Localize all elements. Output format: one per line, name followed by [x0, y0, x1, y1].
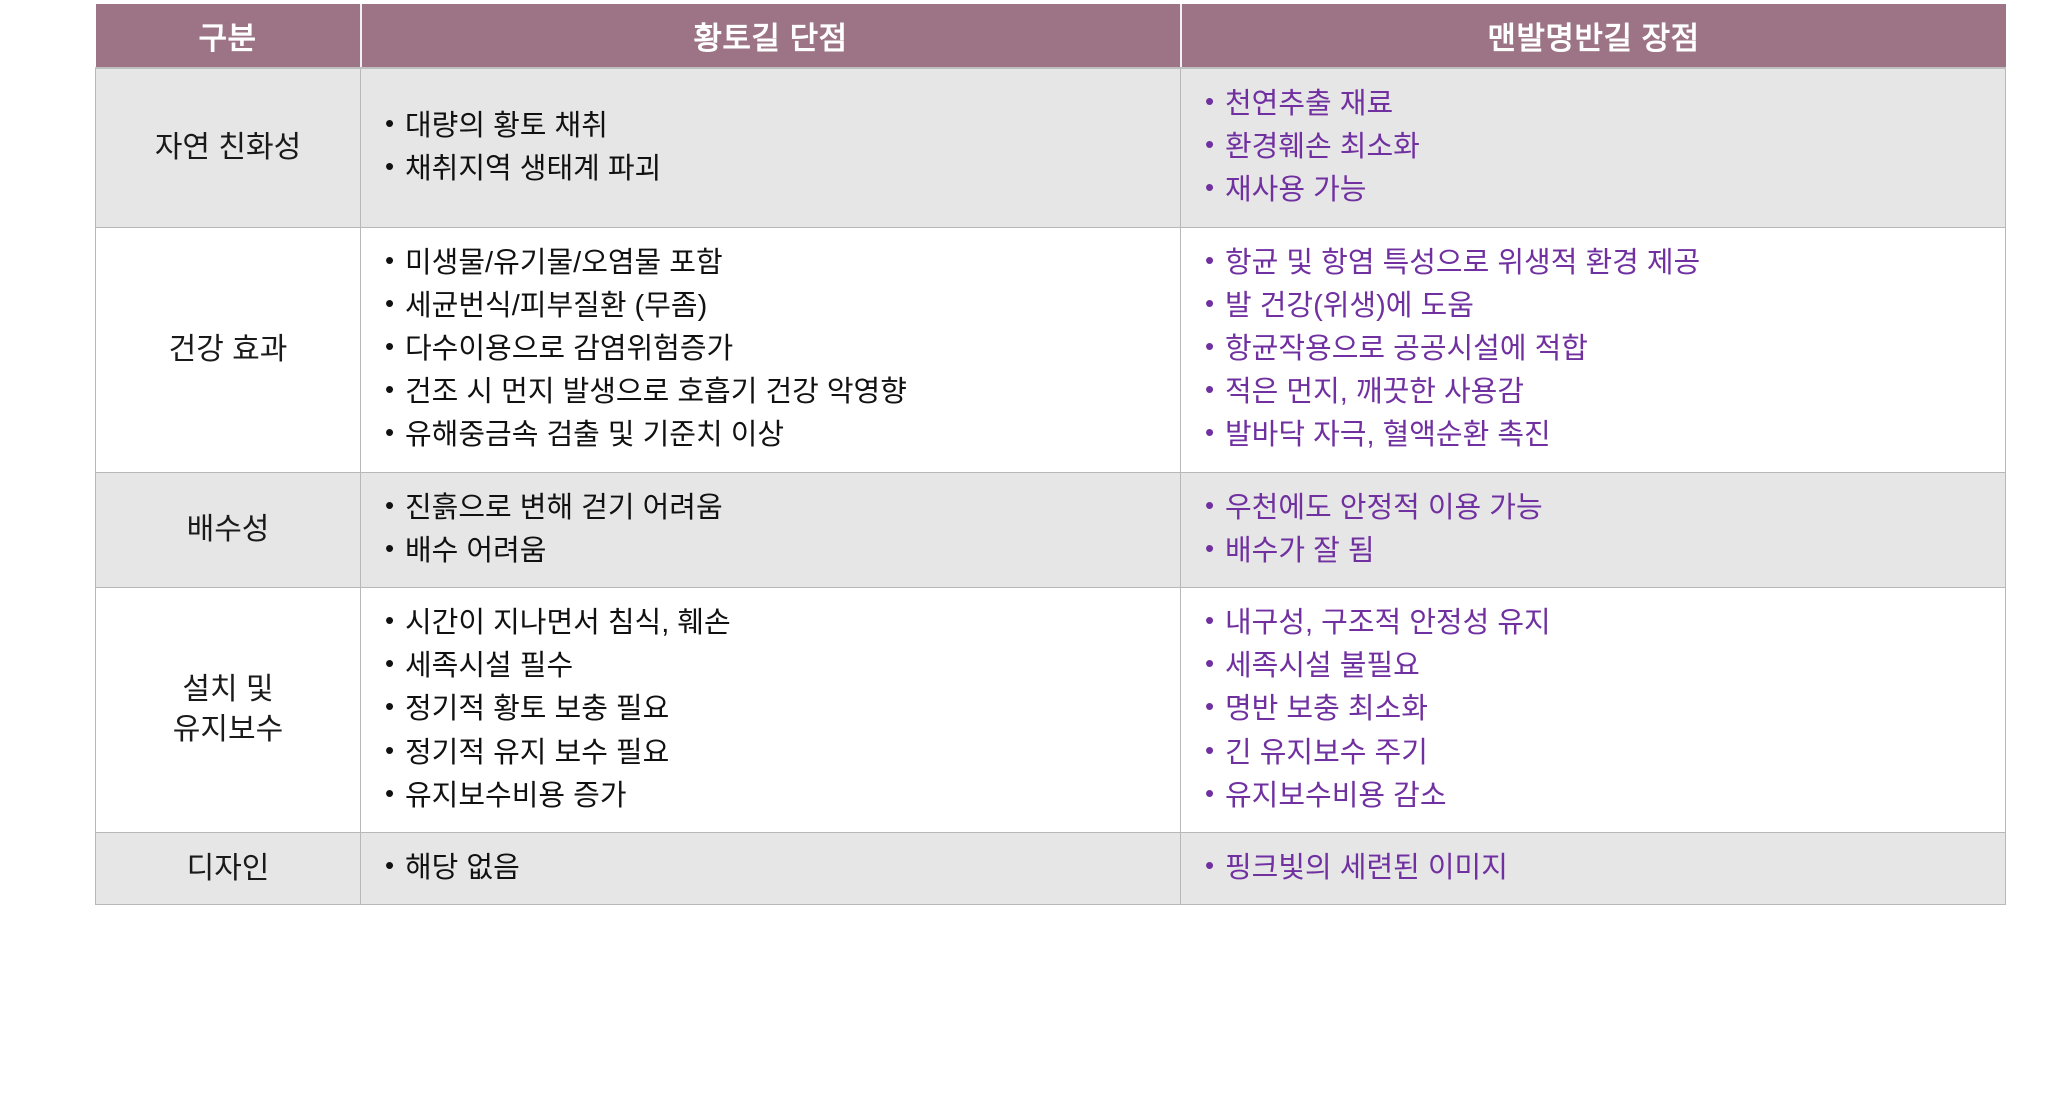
- bullet-item: 우천에도 안정적 이용 가능: [1203, 487, 2005, 530]
- bullet-list: 항균 및 항염 특성으로 위생적 환경 제공발 건강(위생)에 도움항균작용으로…: [1203, 242, 2005, 458]
- bullet-item: 내구성, 구조적 안정성 유지: [1203, 602, 2005, 645]
- bullet-item: 항균 및 항염 특성으로 위생적 환경 제공: [1203, 242, 2005, 285]
- bullet-item: 배수가 잘 됨: [1203, 530, 2005, 573]
- row-pros-cell: 핑크빛의 세련된 이미지: [1181, 833, 2006, 905]
- bullet-item: 천연추출 재료: [1203, 83, 2005, 126]
- bullet-list: 진흙으로 변해 걷기 어려움배수 어려움: [383, 487, 1180, 573]
- row-category-label: 건강 효과: [100, 330, 356, 370]
- header-cons: 황토길 단점: [361, 4, 1181, 68]
- bullet-list: 미생물/유기물/오염물 포함세균번식/피부질환 (무좀)다수이용으로 감염위험증…: [383, 242, 1180, 458]
- bullet-item: 건조 시 먼지 발생으로 호흡기 건강 악영향: [383, 371, 1180, 414]
- row-category-label: 배수성: [100, 510, 356, 550]
- row-cons-cell: 진흙으로 변해 걷기 어려움배수 어려움: [361, 472, 1181, 587]
- bullet-list: 시간이 지나면서 침식, 훼손세족시설 필수정기적 황토 보충 필요정기적 유지…: [383, 602, 1180, 818]
- row-cons-cell: 대량의 황토 채취채취지역 생태계 파괴: [361, 68, 1181, 227]
- bullet-item: 세족시설 불필요: [1203, 645, 2005, 688]
- table-container: 구분 황토길 단점 맨발명반길 장점 자연 친화성대량의 황토 채취채취지역 생…: [95, 4, 2005, 1102]
- row-pros-cell: 천연추출 재료환경훼손 최소화재사용 가능: [1181, 68, 2006, 227]
- row-pros-cell: 내구성, 구조적 안정성 유지세족시설 불필요명반 보충 최소화긴 유지보수 주…: [1181, 588, 2006, 833]
- header-pros: 맨발명반길 장점: [1181, 4, 2006, 68]
- bullet-list: 핑크빛의 세련된 이미지: [1203, 847, 2005, 890]
- table-body: 자연 친화성대량의 황토 채취채취지역 생태계 파괴천연추출 재료환경훼손 최소…: [96, 68, 2006, 905]
- bullet-item: 미생물/유기물/오염물 포함: [383, 242, 1180, 285]
- bullet-item: 정기적 유지 보수 필요: [383, 732, 1180, 775]
- bullet-item: 유지보수비용 감소: [1203, 775, 2005, 818]
- bullet-item: 채취지역 생태계 파괴: [383, 148, 1180, 191]
- bullet-item: 유지보수비용 증가: [383, 775, 1180, 818]
- bullet-item: 환경훼손 최소화: [1203, 126, 2005, 169]
- row-pros-cell: 항균 및 항염 특성으로 위생적 환경 제공발 건강(위생)에 도움항균작용으로…: [1181, 227, 2006, 472]
- bullet-item: 적은 먼지, 깨끗한 사용감: [1203, 371, 2005, 414]
- bullet-item: 다수이용으로 감염위험증가: [383, 328, 1180, 371]
- row-category-cell: 설치 및유지보수: [96, 588, 361, 833]
- table-header: 구분 황토길 단점 맨발명반길 장점: [96, 4, 2006, 68]
- row-pros-cell: 우천에도 안정적 이용 가능배수가 잘 됨: [1181, 472, 2006, 587]
- table-row: 배수성진흙으로 변해 걷기 어려움배수 어려움우천에도 안정적 이용 가능배수가…: [96, 472, 2006, 587]
- row-category-cell: 배수성: [96, 472, 361, 587]
- row-category-cell: 자연 친화성: [96, 68, 361, 227]
- row-cons-cell: 미생물/유기물/오염물 포함세균번식/피부질환 (무좀)다수이용으로 감염위험증…: [361, 227, 1181, 472]
- bullet-list: 대량의 황토 채취채취지역 생태계 파괴: [383, 105, 1180, 191]
- bullet-item: 대량의 황토 채취: [383, 105, 1180, 148]
- table-row: 자연 친화성대량의 황토 채취채취지역 생태계 파괴천연추출 재료환경훼손 최소…: [96, 68, 2006, 227]
- bullet-item: 명반 보충 최소화: [1203, 688, 2005, 731]
- row-cons-cell: 해당 없음: [361, 833, 1181, 905]
- bullet-item: 세균번식/피부질환 (무좀): [383, 285, 1180, 328]
- bullet-list: 우천에도 안정적 이용 가능배수가 잘 됨: [1203, 487, 2005, 573]
- bullet-item: 세족시설 필수: [383, 645, 1180, 688]
- row-category-label: 디자인: [100, 849, 356, 889]
- bullet-item: 발 건강(위생)에 도움: [1203, 285, 2005, 328]
- header-row: 구분 황토길 단점 맨발명반길 장점: [96, 4, 2006, 68]
- table-row: 건강 효과미생물/유기물/오염물 포함세균번식/피부질환 (무좀)다수이용으로 …: [96, 227, 2006, 472]
- header-category: 구분: [96, 4, 361, 68]
- comparison-table: 구분 황토길 단점 맨발명반길 장점 자연 친화성대량의 황토 채취채취지역 생…: [95, 4, 2006, 905]
- row-category-label: 유지보수: [100, 710, 356, 750]
- bullet-item: 긴 유지보수 주기: [1203, 732, 2005, 775]
- comparison-table-page: 구분 황토길 단점 맨발명반길 장점 자연 친화성대량의 황토 채취채취지역 생…: [0, 0, 2048, 1109]
- bullet-list: 천연추출 재료환경훼손 최소화재사용 가능: [1203, 83, 2005, 213]
- bullet-item: 발바닥 자극, 혈액순환 촉진: [1203, 414, 2005, 457]
- bullet-item: 재사용 가능: [1203, 169, 2005, 212]
- bullet-item: 해당 없음: [383, 847, 1180, 890]
- table-row: 설치 및유지보수시간이 지나면서 침식, 훼손세족시설 필수정기적 황토 보충 …: [96, 588, 2006, 833]
- bullet-list: 해당 없음: [383, 847, 1180, 890]
- bullet-item: 시간이 지나면서 침식, 훼손: [383, 602, 1180, 645]
- bullet-item: 정기적 황토 보충 필요: [383, 688, 1180, 731]
- bullet-item: 항균작용으로 공공시설에 적합: [1203, 328, 2005, 371]
- row-cons-cell: 시간이 지나면서 침식, 훼손세족시설 필수정기적 황토 보충 필요정기적 유지…: [361, 588, 1181, 833]
- bullet-item: 유해중금속 검출 및 기준치 이상: [383, 414, 1180, 457]
- bullet-item: 진흙으로 변해 걷기 어려움: [383, 487, 1180, 530]
- table-row: 디자인해당 없음핑크빛의 세련된 이미지: [96, 833, 2006, 905]
- row-category-cell: 건강 효과: [96, 227, 361, 472]
- bullet-item: 배수 어려움: [383, 530, 1180, 573]
- row-category-label: 설치 및: [100, 670, 356, 710]
- row-category-label: 자연 친화성: [100, 128, 356, 168]
- bullet-item: 핑크빛의 세련된 이미지: [1203, 847, 2005, 890]
- row-category-cell: 디자인: [96, 833, 361, 905]
- bullet-list: 내구성, 구조적 안정성 유지세족시설 불필요명반 보충 최소화긴 유지보수 주…: [1203, 602, 2005, 818]
